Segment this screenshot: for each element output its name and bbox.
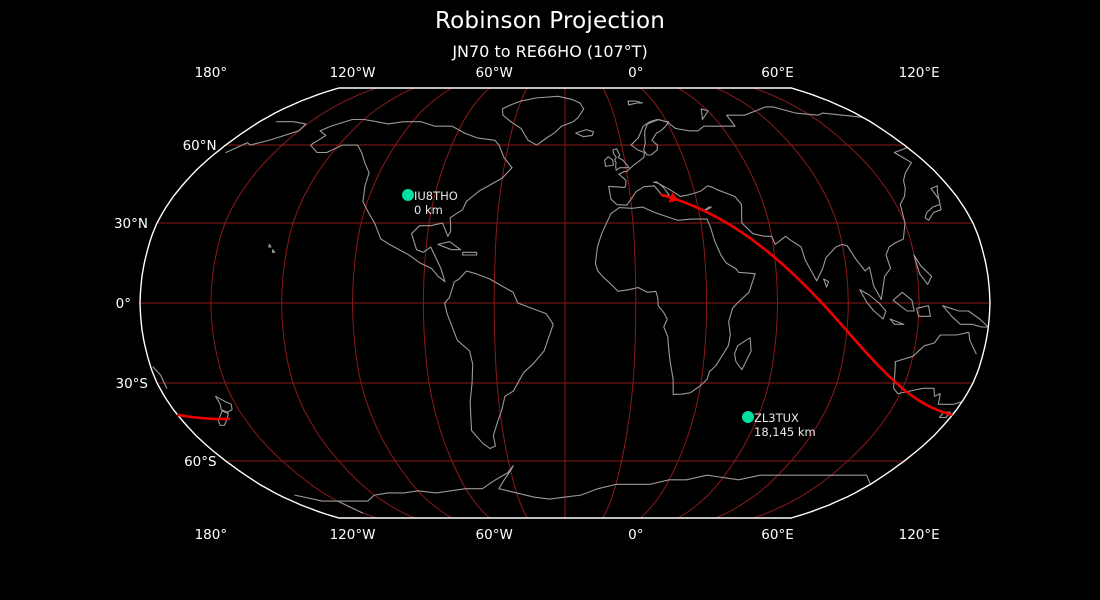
lat-tick-label: 0° — [116, 296, 131, 312]
coastline — [295, 495, 363, 513]
map-figure: Robinson Projection JN70 to RE66HO (107°… — [0, 0, 1100, 600]
coastline — [890, 319, 904, 324]
lon-tick-label-top: 120°E — [899, 65, 940, 81]
coastline — [216, 396, 233, 412]
coastline — [613, 149, 629, 170]
coastline — [445, 271, 554, 449]
lat-tick-label: 30°S — [116, 376, 149, 392]
lat-tick-label: 60°S — [184, 454, 217, 470]
station-markers: IU8THO0 kmZL3TUX18,145 km — [402, 189, 816, 439]
station-marker-zl3tux[interactable]: ZL3TUX18,145 km — [742, 411, 816, 439]
lon-tick-label-top: 60°E — [761, 65, 793, 81]
coastline — [925, 186, 941, 220]
coastline — [576, 130, 594, 137]
lon-tick-label-bottom: 120°E — [899, 527, 940, 543]
coastline — [269, 244, 271, 247]
lon-tick-label-bottom: 60°W — [476, 527, 513, 543]
coastline — [609, 148, 912, 300]
lon-tick-label-bottom: 180° — [195, 527, 228, 543]
lat-tick-label: 30°N — [114, 216, 148, 232]
coastline — [644, 119, 669, 155]
lat-tick-label: 60°N — [183, 138, 217, 154]
station-callsign-label: IU8THO — [414, 189, 458, 203]
coastline — [272, 250, 274, 253]
map-coastline-layer — [153, 96, 988, 513]
coastline — [595, 207, 755, 394]
lon-tick-label-bottom: 60°E — [761, 527, 793, 543]
lon-tick-label-top: 120°W — [330, 65, 376, 81]
station-callsign-label: ZL3TUX — [754, 411, 799, 425]
coastline — [463, 252, 477, 255]
station-distance-label: 18,145 km — [754, 425, 816, 439]
lon-tick-label-bottom: 120°W — [330, 527, 376, 543]
coastline — [438, 242, 461, 250]
coastline — [705, 207, 711, 210]
lon-tick-label-top: 180° — [195, 65, 228, 81]
coastline — [824, 279, 829, 287]
coastline — [605, 157, 614, 167]
coastline — [735, 338, 752, 370]
robinson-map: 60°W60°W0°0°60°E60°E120°E120°E180°180°12… — [0, 0, 1100, 600]
coastline — [628, 101, 642, 105]
lon-tick-label-bottom: 0° — [628, 527, 643, 543]
coastline — [895, 332, 976, 361]
coastline — [226, 122, 306, 153]
station-dot[interactable] — [742, 411, 754, 423]
coastline — [310, 119, 512, 281]
coastline — [701, 109, 708, 120]
station-distance-label: 0 km — [414, 203, 443, 217]
lon-tick-label-top: 60°W — [476, 65, 513, 81]
coastline — [943, 306, 989, 327]
station-dot[interactable] — [402, 189, 414, 201]
coastline — [338, 466, 871, 501]
station-marker-iu8tho[interactable]: IU8THO0 km — [402, 189, 458, 217]
map-graticule-layer — [140, 88, 990, 518]
coastline — [893, 292, 914, 311]
lon-tick-label-top: 0° — [628, 65, 643, 81]
